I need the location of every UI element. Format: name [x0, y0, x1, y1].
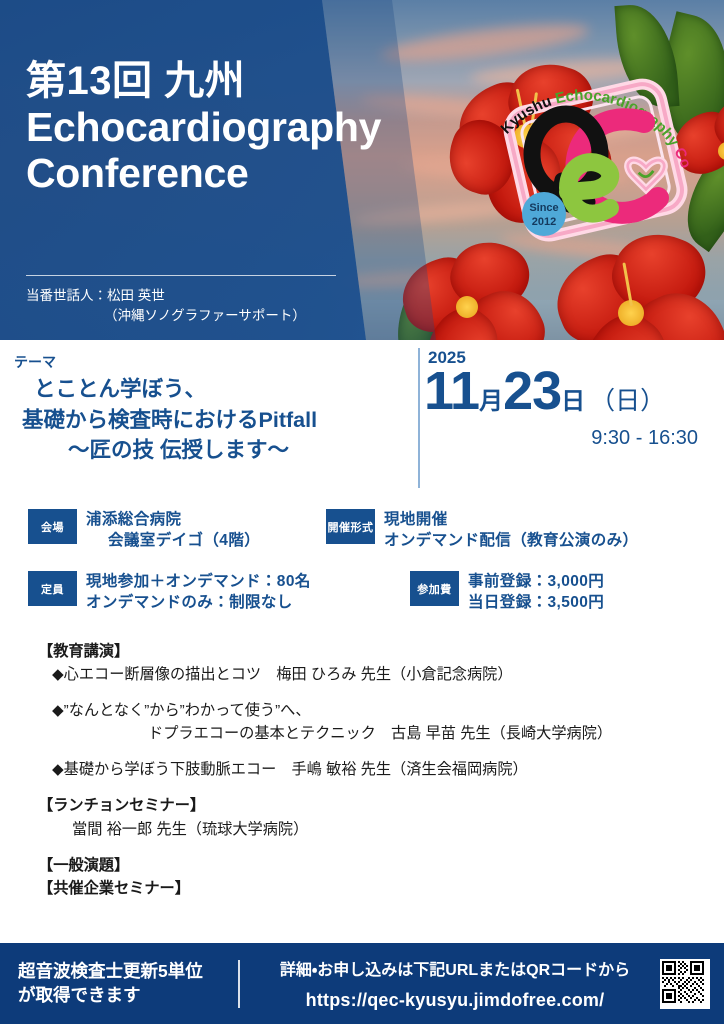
capacity-line-1: 現地参加＋オンデマンド：80名: [86, 573, 311, 590]
badge-format: 開催形式: [326, 509, 375, 544]
chairperson-name: 当番世話人：松田 英世: [26, 288, 165, 303]
footer-divider: [238, 960, 240, 1008]
footer-url-link[interactable]: https://qec-kyusyu.jimdofree.com/: [250, 990, 660, 1011]
info-row-venue: 会場 浦添総合病院 会議室デイゴ（4階）: [28, 509, 260, 552]
info-row-fee: 参加費 事前登録：3,000円 当日登録：3,500円: [410, 571, 604, 614]
qr-code[interactable]: [660, 959, 710, 1009]
fee-text: 事前登録：3,000円 当日登録：3,500円: [468, 571, 604, 614]
program-education-item-3: ◆基礎から学ぼう下肢動脈エコー 手嶋 敏裕 先生（済生会福岡病院）: [38, 758, 698, 781]
chairperson-block: 当番世話人：松田 英世 （沖縄ソノグラファーサポート）: [26, 286, 306, 327]
program-luncheon-speaker: 當間 裕一郎 先生（琉球大学病院）: [38, 818, 698, 841]
program-heading-luncheon: 【ランチョンセミナー】: [38, 794, 698, 817]
program-education-item-2-line-1: ◆”なんとなく”から”わかって使う”へ、: [38, 699, 698, 722]
title-line-2: Echocardiography: [26, 105, 496, 151]
program-section: 【教育講演】 ◆心エコー断層像の描出とコツ 梅田 ひろみ 先生（小倉記念病院） …: [38, 640, 698, 900]
theme-text: とことん学ぼう、 基礎から検査時におけるPitfall 〜匠の技 伝授します〜: [22, 374, 412, 466]
section-vertical-divider: [418, 348, 420, 488]
event-day-unit: 日: [561, 390, 585, 414]
spacer: [38, 745, 698, 758]
theme-line-1: とことん学ぼう、: [22, 374, 412, 405]
capacity-line-2: オンデマンドのみ：制限なし: [86, 592, 311, 613]
logo-since-line2: 2012: [532, 216, 556, 228]
event-date-block: 2025 11 月 23 日 （日） 9:30 - 16:30: [424, 348, 724, 450]
header-divider: [26, 275, 336, 276]
footer-bar: 超音波検査士更新5単位 が取得できます 詳細・お申し込みは下記URLまたはQRコ…: [0, 943, 724, 1024]
venue-line-2: 会議室デイゴ（4階）: [86, 530, 260, 551]
footer-info-line: 詳細・お申し込みは下記URLまたはQRコードから: [250, 956, 660, 980]
format-line-1: 現地開催: [384, 511, 448, 528]
footer-credit-text: 超音波検査士更新5単位 が取得できます: [0, 960, 234, 1007]
chairperson-affiliation: （沖縄ソノグラファーサポート）: [26, 306, 306, 326]
theme-date-section: テーマ とことん学ぼう、 基礎から検査時におけるPitfall 〜匠の技 伝授し…: [0, 340, 724, 500]
event-date-line: 11 月 23 日 （日）: [424, 364, 724, 418]
event-day: 23: [503, 364, 561, 418]
format-line-2: オンデマンド配信（教育公演のみ）: [384, 530, 638, 551]
venue-line-1: 浦添総合病院: [86, 511, 181, 528]
header-title-block: 第13回 九州 Echocardiography Conference: [26, 58, 496, 197]
venue-text: 浦添総合病院 会議室デイゴ（4階）: [86, 509, 260, 552]
info-row-capacity: 定員 現地参加＋オンデマンド：80名 オンデマンドのみ：制限なし: [28, 571, 311, 614]
logo-since-badge: Since 2012: [522, 192, 566, 236]
badge-venue: 会場: [28, 509, 77, 544]
event-month-unit: 月: [479, 390, 503, 414]
theme-line-3: 〜匠の技 伝授します〜: [22, 435, 412, 466]
program-heading-education: 【教育講演】: [38, 640, 698, 663]
program-heading-cosponsor: 【共催企業セミナー】: [38, 877, 698, 900]
logo-letter-e: [568, 162, 610, 213]
capacity-text: 現地参加＋オンデマンド：80名 オンデマンドのみ：制限なし: [86, 571, 311, 614]
footer-info-block: 詳細・お申し込みは下記URLまたはQRコードから https://qec-kyu…: [250, 956, 660, 1011]
event-info-section: 会場 浦添総合病院 会議室デイゴ（4階） 開催形式 現地開催 オンデマンド配信（…: [0, 503, 724, 623]
theme-label: テーマ: [14, 352, 56, 372]
qec-logo: Kyushu Echocardiography Conference: [496, 62, 696, 252]
header-banner: Kyushu Echocardiography Conference: [0, 0, 724, 340]
spacer: [38, 686, 698, 699]
info-row-format: 開催形式 現地開催 オンデマンド配信（教育公演のみ）: [326, 509, 638, 552]
logo-since-line1: Since: [529, 202, 558, 214]
event-time: 9:30 - 16:30: [424, 427, 724, 450]
poster: Kyushu Echocardiography Conference: [0, 0, 724, 1024]
title-line-1: 第13回 九州: [26, 58, 496, 105]
event-weekday: （日）: [590, 389, 665, 414]
program-education-item-1: ◆心エコー断層像の描出とコツ 梅田 ひろみ 先生（小倉記念病院）: [38, 663, 698, 686]
event-month: 11: [424, 364, 479, 418]
badge-fee: 参加費: [410, 571, 459, 606]
title-line-3: Conference: [26, 151, 496, 197]
spacer: [38, 841, 698, 854]
fee-line-1: 事前登録：3,000円: [468, 573, 604, 590]
program-heading-general: 【一般演題】: [38, 854, 698, 877]
program-education-item-2-line-2: ドプラエコーの基本とテクニック 古島 早苗 先生（長崎大学病院）: [38, 722, 698, 745]
spacer: [38, 781, 698, 794]
footer-credit-line-2: が取得できます: [18, 984, 234, 1008]
footer-credit-line-1: 超音波検査士更新5単位: [18, 960, 234, 984]
theme-line-2: 基礎から検査時におけるPitfall: [22, 405, 412, 436]
logo-heart-icon: [628, 160, 664, 189]
fee-line-2: 当日登録：3,500円: [468, 592, 604, 613]
badge-capacity: 定員: [28, 571, 77, 606]
format-text: 現地開催 オンデマンド配信（教育公演のみ）: [384, 509, 638, 552]
